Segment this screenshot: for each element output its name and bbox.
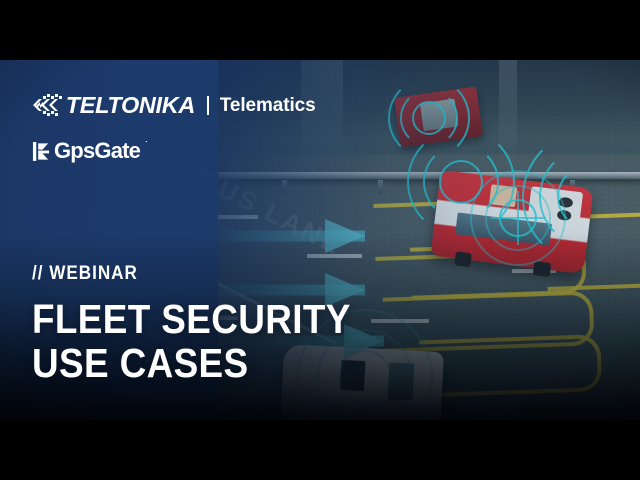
brand-division-label: Telematics xyxy=(220,96,316,115)
teltonika-logo: TELTONIKA Telematics xyxy=(32,92,316,118)
gpsgate-logo: GpsGate˙ xyxy=(32,139,140,163)
teltonika-wordmark: TELTONIKA xyxy=(66,94,195,117)
teltonika-chevron-icon xyxy=(32,94,62,116)
slide-content: TELTONIKA Telematics GpsGate˙ / xyxy=(0,60,640,420)
title-block: // WEBINAR FLEET SECURITY USE CASES xyxy=(32,263,386,386)
brand-divider xyxy=(207,96,209,115)
letterbox-bottom xyxy=(0,420,640,480)
eyebrow-label: // WEBINAR xyxy=(32,263,351,285)
title-line-2: USE CASES xyxy=(32,342,351,386)
video-player-frame: BUS LANE xyxy=(0,0,640,480)
gpsgate-trademark: ˙ xyxy=(145,141,147,150)
title-line-1: FLEET SECURITY xyxy=(32,298,351,342)
gpsgate-asterisk-icon xyxy=(32,141,51,162)
slide-stage: BUS LANE xyxy=(0,60,640,420)
gpsgate-wordmark: GpsGate˙ xyxy=(54,140,140,162)
letterbox-top xyxy=(0,0,640,60)
